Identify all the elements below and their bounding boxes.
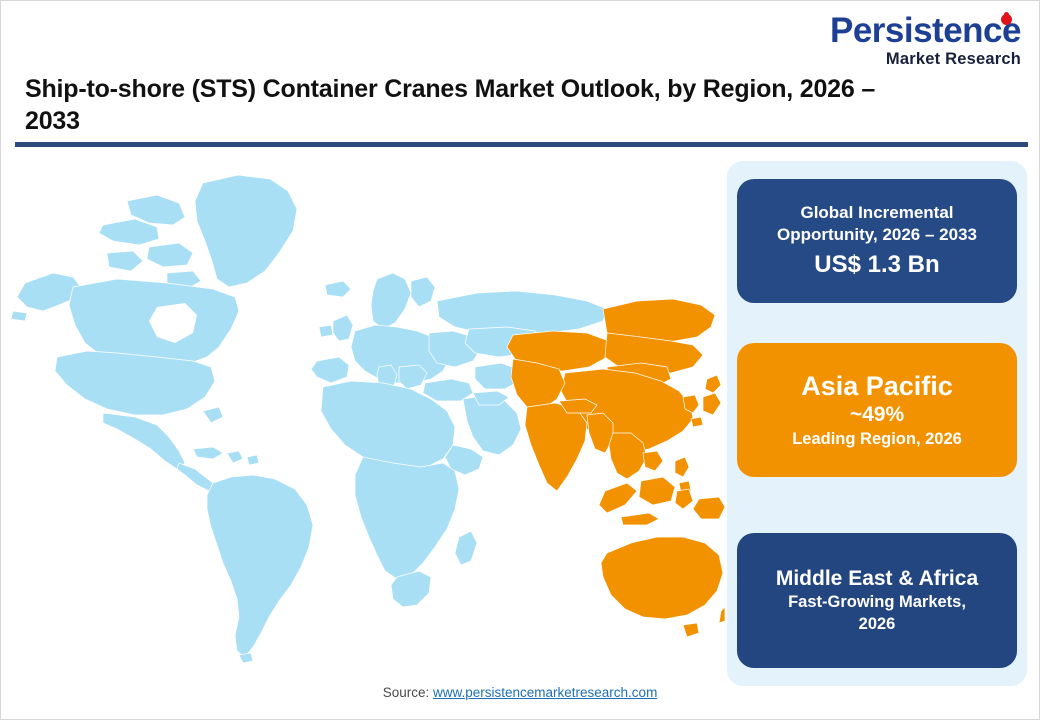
- card-1-value: US$ 1.3 Bn: [814, 249, 939, 280]
- card-2-caption: Leading Region, 2026: [792, 429, 962, 450]
- page-title: Ship-to-shore (STS) Container Cranes Mar…: [25, 73, 905, 137]
- source-label: Source:: [383, 685, 430, 700]
- infographic-page: Persistence Market Research Ship-to-shor…: [0, 0, 1040, 720]
- card-3-region: Middle East & Africa: [776, 566, 978, 592]
- card-global-incremental-opportunity[interactable]: Global Incremental Opportunity, 2026 – 2…: [737, 179, 1017, 303]
- map-land-non-highlighted: [11, 175, 607, 663]
- card-3-year: 2026: [859, 614, 896, 635]
- red-dot-icon: [1001, 14, 1012, 25]
- card-1-line-2: Opportunity, 2026 – 2033: [777, 224, 977, 246]
- logo-tagline: Market Research: [830, 51, 1021, 68]
- card-2-share: ~49%: [850, 402, 904, 428]
- card-leading-region[interactable]: Asia Pacific ~49% Leading Region, 2026: [737, 343, 1017, 477]
- source-link[interactable]: www.persistencemarketresearch.com: [433, 685, 657, 700]
- world-map: [7, 161, 725, 671]
- brand-logo: Persistence Market Research: [830, 13, 1021, 68]
- logo-wordmark: Persistence: [830, 13, 1021, 48]
- card-1-line-1: Global Incremental: [800, 202, 953, 224]
- title-divider: [15, 142, 1028, 147]
- card-2-region: Asia Pacific: [801, 370, 953, 402]
- stats-panel: Global Incremental Opportunity, 2026 – 2…: [727, 161, 1027, 686]
- card-fast-growing-market[interactable]: Middle East & Africa Fast-Growing Market…: [737, 533, 1017, 668]
- source-line: Source: www.persistencemarketresearch.co…: [1, 685, 1039, 700]
- map-land-asia-pacific-highlighted: [507, 299, 725, 637]
- card-3-caption: Fast-Growing Markets,: [788, 592, 966, 613]
